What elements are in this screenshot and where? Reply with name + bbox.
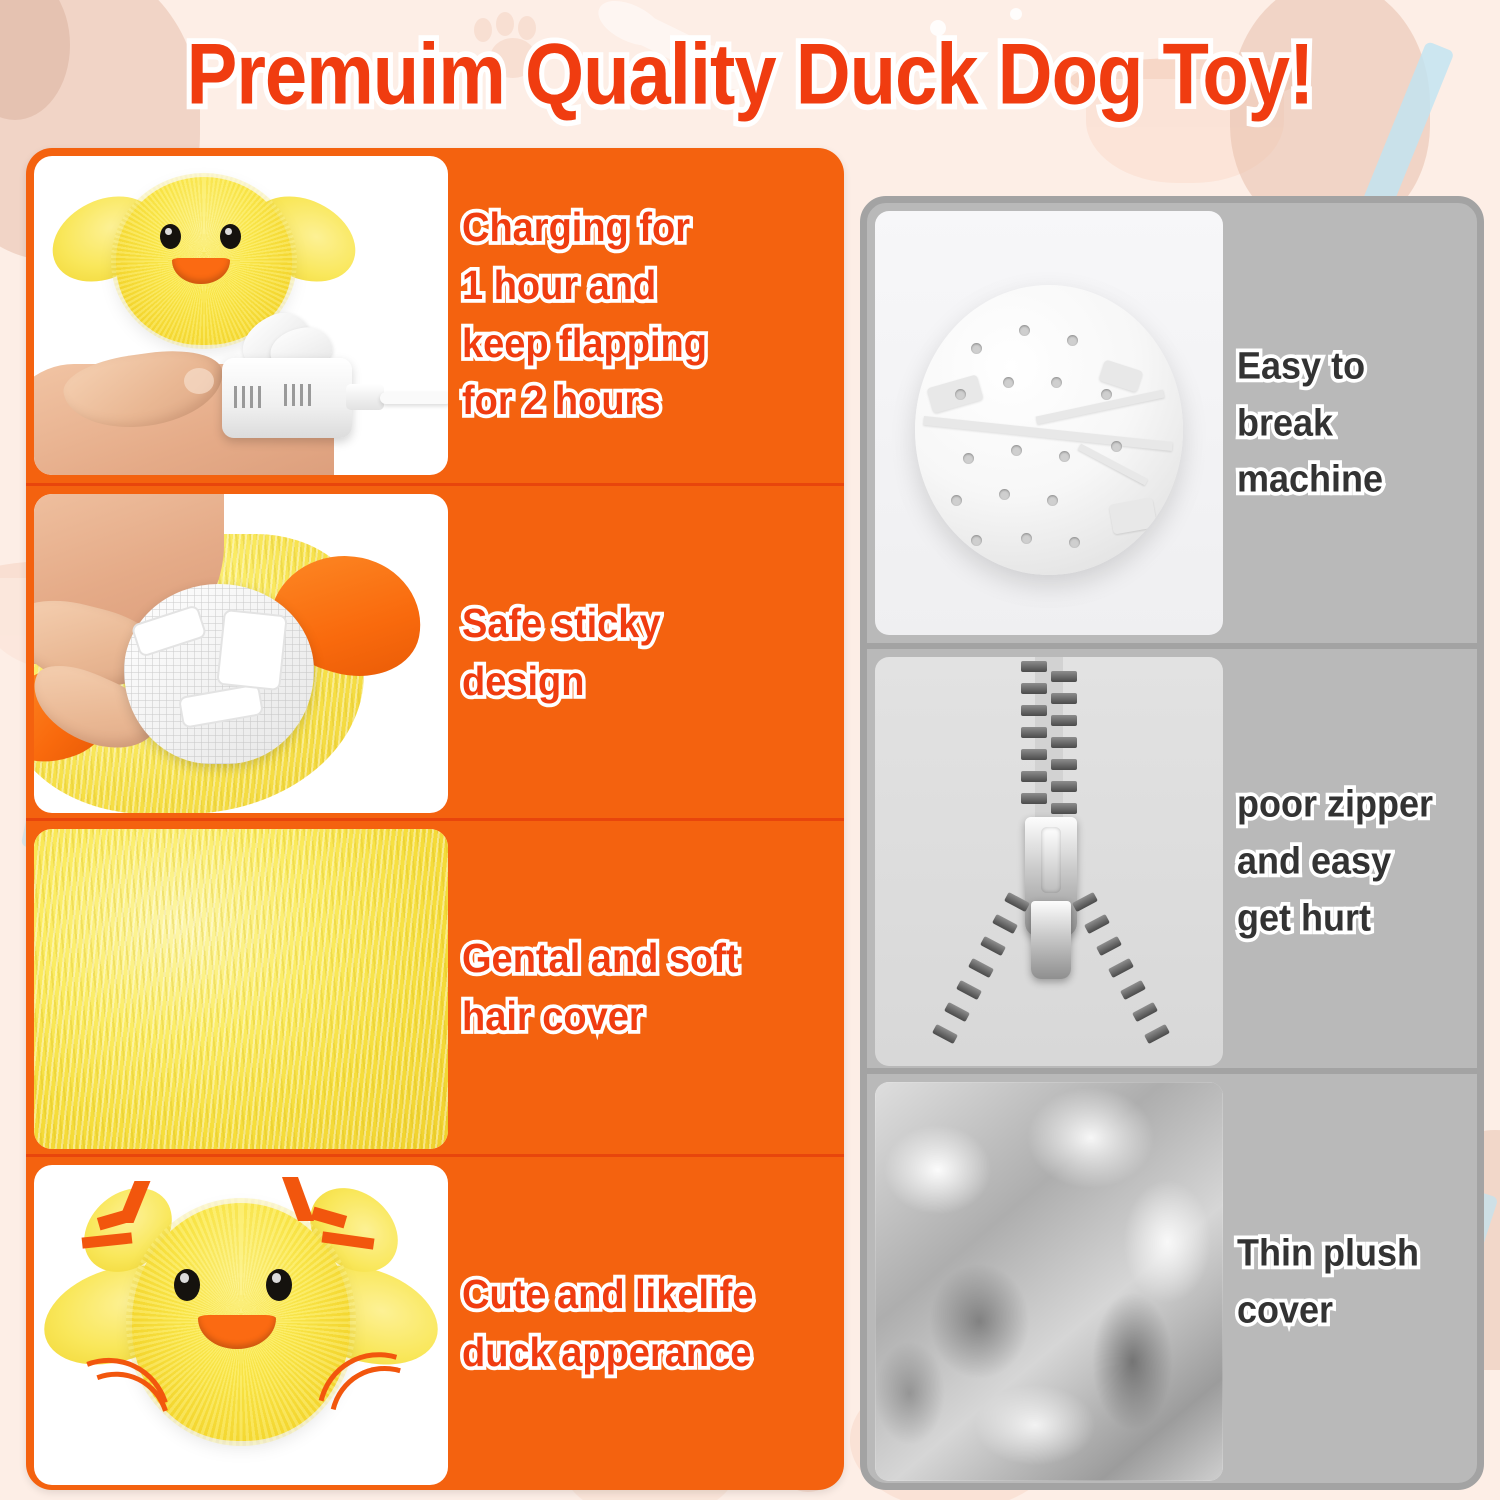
feature-text-line: Charging for: [462, 198, 826, 260]
feature-text-block: Charging for 1 hour and keep flapping fo…: [462, 148, 826, 483]
feature-text-line: duck apperance: [462, 1323, 826, 1385]
drawback-text-block: poor zipper and easy get hurt: [1237, 649, 1469, 1074]
features-panel: Charging for 1 hour and keep flapping fo…: [26, 148, 844, 1490]
feature-row: Safe sticky design: [26, 483, 844, 821]
feature-text-line: keep flapping: [462, 313, 826, 375]
feature-row: Charging for 1 hour and keep flapping fo…: [26, 148, 844, 483]
drawback-text-block: Thin plush cover: [1237, 1074, 1469, 1489]
zipper-pull-tab: [1041, 827, 1061, 893]
feature-text-line: Gental and soft: [462, 929, 826, 991]
drawback-text-line: machine: [1237, 450, 1469, 510]
sticky-mesh-pouch-photo: [34, 494, 448, 813]
plastic-ball: [915, 285, 1183, 575]
feature-text-line: hair cover: [462, 987, 826, 1049]
feature-text-line: Cute and likelife: [462, 1265, 826, 1327]
feature-text-block: Cute and likelife duck apperance: [462, 1157, 826, 1490]
drawback-text-line: get hurt: [1237, 888, 1469, 948]
cracked-white-ball-photo: [875, 211, 1223, 635]
feature-text-block: Gental and soft hair cover: [462, 821, 826, 1157]
feature-text-line: Safe sticky: [462, 593, 826, 655]
page-title: Premuim Quality Duck Dog Toy!: [0, 24, 1500, 124]
drawback-text-block: Easy to break machine: [1237, 203, 1469, 643]
feature-text-line: for 2 hours: [462, 371, 826, 433]
zipper-slider-body: [1031, 901, 1071, 979]
page-title-text: Premuim Quality Duck Dog Toy!: [187, 24, 1314, 123]
drawback-text-line: Thin plush: [1237, 1223, 1469, 1283]
drawback-text-line: Easy to: [1237, 336, 1469, 396]
feature-text-line: design: [462, 651, 826, 713]
velcro-strip: [216, 609, 288, 691]
feature-row: Gental and soft hair cover: [26, 818, 844, 1157]
feature-text-block: Safe sticky design: [462, 486, 826, 821]
drawback-text-line: poor zipper: [1237, 774, 1469, 834]
soft-yellow-fur-closeup-photo: [34, 829, 448, 1149]
flapping-duck-photo: [34, 1165, 448, 1485]
usb-cable: [380, 392, 448, 404]
duck-plush-and-usb-charger-photo: [34, 156, 448, 475]
feature-text-line: 1 hour and: [462, 255, 826, 317]
drawbacks-panel: Easy to break machine: [860, 196, 1484, 1490]
feature-row: Cute and likelife duck apperance: [26, 1154, 844, 1490]
usb-plug: [346, 384, 384, 410]
drawback-row: poor zipper and easy get hurt: [867, 643, 1477, 1074]
thin-plush-texture-photo: [875, 1082, 1223, 1481]
drawback-row: Thin plush cover: [867, 1068, 1477, 1489]
drawback-text-line: and easy: [1237, 831, 1469, 891]
drawback-text-line: break: [1237, 393, 1469, 453]
drawback-text-line: cover: [1237, 1280, 1469, 1340]
metal-zipper-photo: [875, 657, 1223, 1066]
drawback-row: Easy to break machine: [867, 203, 1477, 643]
